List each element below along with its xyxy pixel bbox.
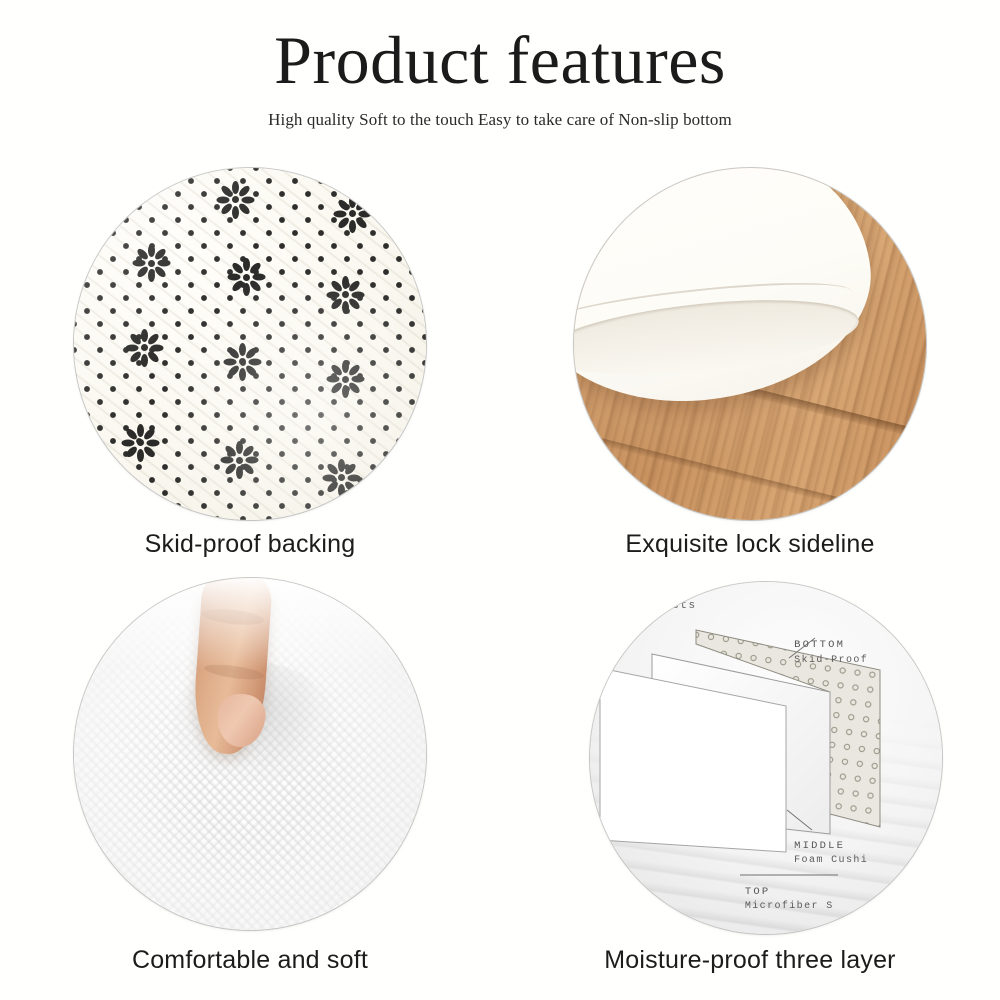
diagram-label-top-desc: Microfiber S: [745, 900, 834, 915]
finger-pressing-plush-mat-image: [74, 578, 426, 930]
feature-grid: Skid-proof backing Exquisite lock sideli…: [0, 160, 1000, 990]
diagram-label-top: TOP Microfiber S: [745, 885, 834, 915]
diagram-label-top-name: TOP: [745, 885, 834, 900]
fabric-sheen-overlay: [74, 168, 426, 520]
page-header: Product features High quality Soft to th…: [0, 0, 1000, 130]
diagram-label-middle-name: MIDDLE: [794, 839, 868, 854]
feature-caption: Skid-proof backing: [0, 530, 500, 559]
feature-card-skid-proof-backing: Skid-proof backing: [0, 160, 500, 575]
feature-card-moisture-proof-three-layer: roducts BOTTOM Skid-Proof MIDDLE Foam Cu…: [500, 570, 1000, 985]
diagram-label-bottom: BOTTOM Skid-Proof: [794, 638, 868, 668]
feature-card-exquisite-lock-sideline: Exquisite lock sideline: [500, 160, 1000, 575]
diagram-label-middle: MIDDLE Foam Cushi: [794, 839, 868, 869]
feature-card-comfortable-and-soft: Comfortable and soft: [0, 570, 500, 985]
lighting-overlay: [574, 168, 926, 520]
feature-caption: Exquisite lock sideline: [500, 530, 1000, 559]
layer-cutaway-illustration: [590, 582, 942, 934]
top-highlight-fade: [74, 578, 426, 670]
feature-caption: Comfortable and soft: [0, 946, 500, 975]
dotted-anti-slip-backing-image: [74, 168, 426, 520]
diagram-label-bottom-name: BOTTOM: [794, 638, 868, 653]
page-subtitle: High quality Soft to the touch Easy to t…: [0, 94, 1000, 130]
page-title: Product features: [0, 0, 1000, 94]
diagram-label-middle-desc: Foam Cushi: [794, 854, 868, 869]
white-mat-on-wood-floor-image: [574, 168, 926, 520]
diagram-watermark: roducts: [639, 600, 696, 612]
feature-caption: Moisture-proof three layer: [500, 946, 1000, 975]
diagram-label-bottom-desc: Skid-Proof: [794, 654, 868, 669]
three-layer-cutaway-diagram-image: roducts BOTTOM Skid-Proof MIDDLE Foam Cu…: [590, 582, 942, 934]
